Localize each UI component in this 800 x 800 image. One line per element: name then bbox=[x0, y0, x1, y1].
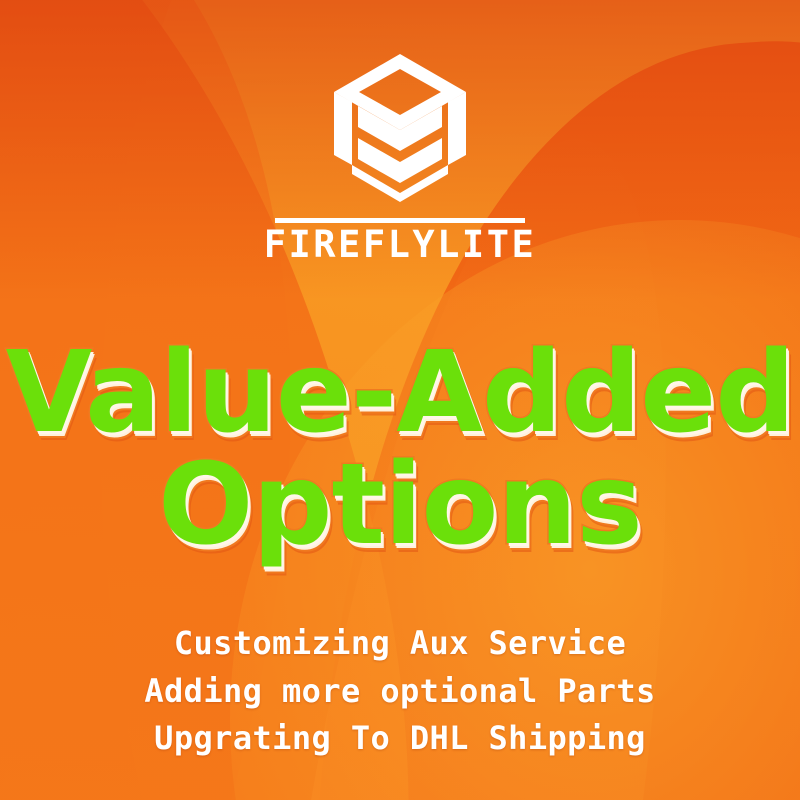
brand-name-wrap: FIREFLYLITE bbox=[264, 218, 537, 265]
feature-item-3: Upgrating To DHL Shipping bbox=[144, 715, 655, 762]
promo-banner: FIREFLYLITE Value-Added Options Customiz… bbox=[0, 0, 800, 800]
brand-logo-block: FIREFLYLITE bbox=[264, 52, 537, 265]
cube-chevron-logo-icon bbox=[330, 52, 470, 204]
headline: Value-Added Options bbox=[6, 339, 795, 561]
headline-line-2: Options bbox=[6, 451, 795, 561]
banner-content: FIREFLYLITE Value-Added Options Customiz… bbox=[0, 0, 800, 800]
feature-list: Customizing Aux Service Adding more opti… bbox=[144, 620, 655, 762]
headline-line-1: Value-Added bbox=[6, 339, 795, 449]
brand-name: FIREFLYLITE bbox=[264, 226, 537, 265]
feature-item-1: Customizing Aux Service bbox=[144, 620, 655, 667]
feature-item-2: Adding more optional Parts bbox=[144, 668, 655, 715]
